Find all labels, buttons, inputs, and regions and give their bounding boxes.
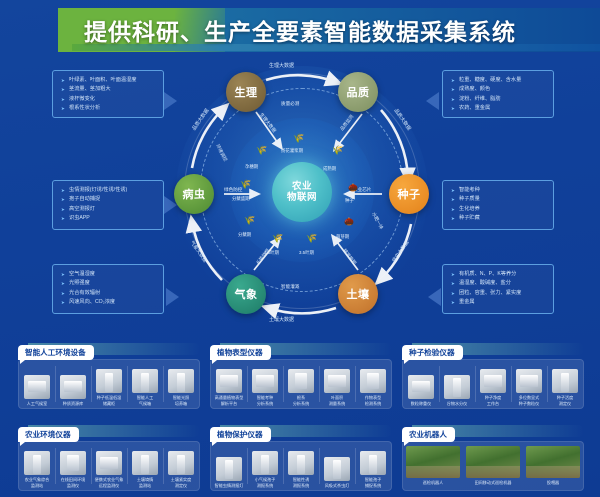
rice-plant-icon-0: 🌾 bbox=[293, 134, 304, 143]
robot-photo-label: 投喂器 bbox=[547, 480, 559, 486]
infobox-soil-list: 有机质、N、P、K等养分 温湿度、酸碱度、盐分 团粒、容重、张力、紧实度 重金属 bbox=[451, 270, 547, 308]
arc-label-top: 生理大数据 bbox=[269, 62, 294, 69]
inner-label-bottom: 智能灌溉 bbox=[281, 284, 299, 290]
infobox-seed-list: 智能考种 种子质量 生化培养 种子贮藏 bbox=[451, 186, 547, 224]
node-pest[interactable]: 病虫 bbox=[174, 174, 214, 214]
inner-label-top: 质量必测 bbox=[281, 101, 299, 107]
infobox-soil-item-2: 团粒、容重、张力、紧实度 bbox=[451, 289, 547, 298]
product-image-icon bbox=[60, 375, 86, 399]
product-item[interactable]: 作物表型 检测系统 bbox=[355, 360, 391, 408]
title-banner: 提供科研、生产全要素智能数据采集系统 bbox=[0, 8, 600, 52]
section-plant-protection: 植物保护仪器 智能虫情测报灯 小气候孢子 测报系统 智能性诱 测报系统 风吸式杀… bbox=[210, 424, 392, 442]
stage-label-1: 孕穗期 bbox=[245, 164, 258, 170]
product-image-icon bbox=[168, 369, 194, 393]
rice-plant-icon-2: 🌾 bbox=[332, 146, 343, 155]
infobox-weather-item-3: 风速风向、CO₂浓度 bbox=[61, 298, 157, 307]
stage-label-7: 种子 bbox=[345, 198, 354, 204]
infobox-weather-list: 空气温湿度 光照强度 光合有效辐射 风速风向、CO₂浓度 bbox=[61, 270, 157, 308]
product-item[interactable]: 多位数显式 种子数粒仪 bbox=[511, 360, 547, 408]
infobox-quality-list: 粒重、糖度、硬度、含水量 成熟度、颜色 淀粉、纤维、脂肪 农药、重金属 bbox=[451, 76, 547, 114]
product-label: 种子低温低湿 储藏柜 bbox=[97, 395, 122, 406]
core-agriculture-iot: 农业 物联网 bbox=[272, 162, 332, 222]
infobox-seed-item-0: 智能考种 bbox=[451, 186, 547, 195]
product-label: 种子活度 测定仪 bbox=[557, 395, 573, 406]
infobox-soil: 有机质、N、P、K等养分 温湿度、酸碱度、盐分 团粒、容重、张力、紧实度 重金属 bbox=[442, 264, 554, 314]
core-label-line2: 物联网 bbox=[287, 192, 317, 204]
product-label: 农业气象综合 监测站 bbox=[25, 477, 50, 488]
product-item[interactable]: 小气候孢子 测报系统 bbox=[247, 442, 283, 490]
product-label: 土壤墒情 监测站 bbox=[137, 477, 153, 488]
infobox-physiology-list: 叶绿素、叶面积、叶面温湿度 茎流量、茎加粗大 液杆微变化 根系性状分析 bbox=[61, 76, 157, 114]
product-label: 便携式农业气象 远程监测仪 bbox=[95, 477, 124, 488]
infobox-pest-item-3: 识虫APP bbox=[61, 214, 157, 223]
product-image-icon bbox=[60, 451, 86, 475]
robot-photo-item[interactable]: 巡检机器人 bbox=[406, 446, 460, 486]
infobox-quality-item-1: 成熟度、颜色 bbox=[451, 85, 547, 94]
infobox-pest: 虫情测报(灯诱/性诱/性诱) 孢子自动捕捉 高空测报灯 识虫APP bbox=[52, 180, 164, 230]
rice-plant-icon-5: 🌾 bbox=[272, 234, 283, 243]
rice-plant-icon-4: 🌾 bbox=[244, 216, 255, 225]
infobox-soil-item-3: 重金属 bbox=[451, 298, 547, 307]
product-label: 智能孢子 捕捉系统 bbox=[365, 477, 381, 488]
infobox-weather-item-1: 光照强度 bbox=[61, 279, 157, 288]
product-label: 叶面积 测量系统 bbox=[329, 395, 345, 406]
robot-photo-label: 巡检机器人 bbox=[423, 480, 443, 486]
infobox-physiology-item-0: 叶绿素、叶面积、叶面温湿度 bbox=[61, 76, 157, 85]
infobox-physiology-item-1: 茎流量、茎加粗大 bbox=[61, 85, 157, 94]
infobox-weather: 空气温湿度 光照强度 光合有效辐射 风速风向、CO₂浓度 bbox=[52, 264, 164, 314]
infobox-pest-list: 虫情测报(灯诱/性诱/性诱) 孢子自动捕捉 高空测报灯 识虫APP bbox=[61, 186, 157, 224]
infobox-quality-item-3: 农药、重金属 bbox=[451, 104, 547, 113]
product-image-icon bbox=[24, 451, 50, 475]
product-label: 多位数显式 种子数粒仪 bbox=[519, 395, 539, 406]
product-item[interactable]: 谷物水分仪 bbox=[439, 360, 475, 408]
product-image-icon bbox=[216, 457, 242, 481]
section-title-2: 种子检验仪器 bbox=[402, 345, 463, 360]
product-label: 数粒称重仪 bbox=[411, 401, 431, 406]
infobox-pest-item-2: 高空测报灯 bbox=[61, 205, 157, 214]
infobox-pest-item-1: 孢子自动捕捉 bbox=[61, 195, 157, 204]
section-title-3: 农业环境仪器 bbox=[18, 427, 79, 442]
infobox-weather-item-2: 光合有效辐射 bbox=[61, 289, 157, 298]
robot-photo-image bbox=[406, 446, 460, 478]
product-label: 智能考种 分析系统 bbox=[257, 395, 273, 406]
product-label: 种质资源库 bbox=[63, 401, 83, 406]
node-quality[interactable]: 品质 bbox=[338, 72, 378, 112]
robot-photo-item[interactable]: 田间移动式巡检机器 bbox=[466, 446, 520, 486]
section-title-0: 智能人工环境设备 bbox=[18, 345, 94, 360]
product-label: 高通量植物表型 解析平台 bbox=[215, 395, 244, 406]
rice-plant-icon-3: 🌾 bbox=[240, 180, 251, 189]
stage-label-8: 萌芽期 bbox=[336, 234, 349, 240]
seed-icon-1: 🌰 bbox=[344, 218, 354, 226]
node-physiology[interactable]: 生理 bbox=[226, 72, 266, 112]
product-image-icon bbox=[96, 451, 122, 475]
product-image-icon bbox=[360, 369, 386, 393]
node-seed[interactable]: 种子 bbox=[389, 174, 429, 214]
product-image-icon bbox=[288, 369, 314, 393]
robot-photo-image bbox=[526, 446, 580, 478]
product-image-icon bbox=[552, 369, 578, 393]
product-item[interactable]: 风吸式杀虫灯 bbox=[319, 442, 355, 490]
section-panel-2: 数粒称重仪 谷物水分仪 种子净度 工作台 多位数显式 种子数粒仪 种子活度 测定… bbox=[402, 359, 584, 409]
product-item[interactable]: 数粒称重仪 bbox=[403, 360, 439, 408]
section-plant-phenotyping: 植物表型仪器 高通量植物表型 解析平台 智能考种 分析系统 根系 分析系统 叶面… bbox=[210, 342, 392, 360]
section-title-4: 植物保护仪器 bbox=[210, 427, 271, 442]
product-image-icon bbox=[96, 369, 122, 393]
product-item[interactable]: 智能人工 气候箱 bbox=[127, 360, 163, 408]
product-image-icon bbox=[288, 451, 314, 475]
rice-plant-icon-1: 🌾 bbox=[256, 146, 267, 155]
product-label: 小气候孢子 测报系统 bbox=[255, 477, 275, 488]
robot-photo-item[interactable]: 投喂器 bbox=[526, 446, 580, 486]
product-item[interactable]: 智能虫情测报灯 bbox=[211, 442, 247, 490]
product-item[interactable]: 智能光照 培养箱 bbox=[163, 360, 199, 408]
product-item[interactable]: 便携式农业气象 远程监测仪 bbox=[91, 442, 127, 490]
rice-plant-icon-6: 🌾 bbox=[306, 234, 317, 243]
infobox-soil-item-1: 温湿度、酸碱度、盐分 bbox=[451, 279, 547, 288]
product-item[interactable]: 农业气象综合 监测站 bbox=[19, 442, 55, 490]
product-item[interactable]: 种子净度 工作台 bbox=[475, 360, 511, 408]
section-title-5: 农业机器人 bbox=[402, 427, 455, 442]
stage-label-6: 3.5叶期 bbox=[299, 250, 314, 256]
product-label: 智能性诱 测报系统 bbox=[293, 477, 309, 488]
product-image-icon bbox=[216, 369, 242, 393]
product-label: 根系 分析系统 bbox=[293, 395, 309, 406]
section-agri-environment: 农业环境仪器 农业气象综合 监测站 在线田间环境 监测仪 便携式农业气象 远程监… bbox=[18, 424, 200, 442]
product-item[interactable]: 根系 分析系统 bbox=[283, 360, 319, 408]
product-item[interactable]: 种子活度 测定仪 bbox=[547, 360, 583, 408]
infobox-seed: 智能考种 种子质量 生化培养 种子贮藏 bbox=[442, 180, 554, 230]
product-item[interactable]: 智能考种 分析系统 bbox=[247, 360, 283, 408]
product-label: 智能虫情测报灯 bbox=[215, 483, 244, 488]
arc-label-bottom: 土壤大数据 bbox=[269, 316, 294, 323]
section-seed-testing: 种子检验仪器 数粒称重仪 谷物水分仪 种子净度 工作台 多位数显式 种子数粒仪 … bbox=[402, 342, 584, 360]
section-smart-environment: 智能人工环境设备 人工气候室 种质资源库 种子低温低湿 储藏柜 智能人工 气候箱… bbox=[18, 342, 200, 360]
section-panel-0: 人工气候室 种质资源库 种子低温低湿 储藏柜 智能人工 气候箱 智能光照 培养箱 bbox=[18, 359, 200, 409]
stage-label-5: 4.5叶期 bbox=[264, 250, 279, 256]
product-item[interactable]: 智能性诱 测报系统 bbox=[283, 442, 319, 490]
seed-icon-0: 🌰 bbox=[348, 184, 358, 192]
product-item[interactable]: 人工气候室 bbox=[19, 360, 55, 408]
poster-root: 提供科研、生产全要素智能数据采集系统 叶绿素、叶面积、叶面温湿度 茎流量、茎加粗… bbox=[0, 0, 600, 497]
product-image-icon bbox=[252, 369, 278, 393]
infobox-seed-item-1: 种子质量 bbox=[451, 195, 547, 204]
product-label: 在线田间环境 监测仪 bbox=[61, 477, 86, 488]
node-weather[interactable]: 气象 bbox=[226, 274, 266, 314]
stage-label-2: 成熟期 bbox=[323, 166, 336, 172]
infobox-physiology-item-3: 根系性状分析 bbox=[61, 104, 157, 113]
section-panel-4: 智能虫情测报灯 小气候孢子 测报系统 智能性诱 测报系统 风吸式杀虫灯 智能孢子… bbox=[210, 441, 392, 491]
infobox-quality-item-0: 粒重、糖度、硬度、含水量 bbox=[451, 76, 547, 85]
product-label: 智能人工 气候箱 bbox=[137, 395, 153, 406]
product-label: 种子净度 工作台 bbox=[485, 395, 501, 406]
product-image-icon bbox=[444, 375, 470, 399]
robot-photo-label: 田间移动式巡检机器 bbox=[475, 480, 512, 486]
product-image-icon bbox=[132, 369, 158, 393]
product-item[interactable]: 土壤墒情 监测站 bbox=[127, 442, 163, 490]
product-image-icon bbox=[132, 451, 158, 475]
product-image-icon bbox=[408, 375, 434, 399]
stage-label-3: 分蘖盛期 bbox=[232, 196, 250, 202]
product-image-icon bbox=[24, 375, 50, 399]
product-label: 谷物水分仪 bbox=[447, 401, 467, 406]
product-image-icon bbox=[252, 451, 278, 475]
product-item[interactable]: 叶面积 测量系统 bbox=[319, 360, 355, 408]
product-label: 智能光照 培养箱 bbox=[173, 395, 189, 406]
infobox-seed-item-3: 种子贮藏 bbox=[451, 214, 547, 223]
infobox-soil-item-0: 有机质、N、P、K等养分 bbox=[451, 270, 547, 279]
product-item[interactable]: 高通量植物表型 解析平台 bbox=[211, 360, 247, 408]
page-title: 提供科研、生产全要素智能数据采集系统 bbox=[0, 8, 600, 52]
node-soil[interactable]: 土壤 bbox=[338, 274, 378, 314]
central-diagram: 生理大数据 土壤大数据 品质大数据 品质大数据 气象大数据 病虫大数据 质量必测… bbox=[168, 58, 436, 330]
infobox-quality: 粒重、糖度、硬度、含水量 成熟度、颜色 淀粉、纤维、脂肪 农药、重金属 bbox=[442, 70, 554, 118]
product-item[interactable]: 智能孢子 捕捉系统 bbox=[355, 442, 391, 490]
product-item[interactable]: 土壤紧实度 测定仪 bbox=[163, 442, 199, 490]
product-label: 人工气候室 bbox=[27, 401, 47, 406]
product-image-icon bbox=[360, 451, 386, 475]
section-panel-3: 农业气象综合 监测站 在线田间环境 监测仪 便携式农业气象 远程监测仪 土壤墒情… bbox=[18, 441, 200, 491]
infobox-physiology: 叶绿素、叶面积、叶面温湿度 茎流量、茎加粗大 液杆微变化 根系性状分析 bbox=[52, 70, 164, 118]
infobox-physiology-item-2: 液杆微变化 bbox=[61, 95, 157, 104]
product-image-icon bbox=[516, 369, 542, 393]
section-panel-5: 巡检机器人 田间移动式巡检机器 投喂器 bbox=[402, 441, 584, 491]
infobox-seed-item-2: 生化培养 bbox=[451, 205, 547, 214]
section-title-1: 植物表型仪器 bbox=[210, 345, 271, 360]
product-item[interactable]: 在线田间环境 监测仪 bbox=[55, 442, 91, 490]
product-label: 土壤紧实度 测定仪 bbox=[171, 477, 191, 488]
product-image-icon bbox=[168, 451, 194, 475]
infobox-weather-item-0: 空气温湿度 bbox=[61, 270, 157, 279]
product-image-icon bbox=[324, 457, 350, 481]
product-label: 风吸式杀虫灯 bbox=[325, 483, 350, 488]
stage-label-0: 扬花灌浆期 bbox=[281, 148, 303, 154]
product-image-icon bbox=[324, 369, 350, 393]
product-item[interactable]: 种质资源库 bbox=[55, 360, 91, 408]
product-label: 作物表型 检测系统 bbox=[365, 395, 381, 406]
product-image-icon bbox=[480, 369, 506, 393]
section-agri-robots: 农业机器人 巡检机器人 田间移动式巡检机器 投喂器 bbox=[402, 424, 584, 442]
section-panel-1: 高通量植物表型 解析平台 智能考种 分析系统 根系 分析系统 叶面积 测量系统 … bbox=[210, 359, 392, 409]
core-label-line1: 农业 bbox=[292, 181, 312, 193]
product-item[interactable]: 种子低温低湿 储藏柜 bbox=[91, 360, 127, 408]
infobox-quality-item-2: 淀粉、纤维、脂肪 bbox=[451, 95, 547, 104]
infobox-pest-item-0: 虫情测报(灯诱/性诱/性诱) bbox=[61, 186, 157, 195]
stage-label-4: 分蘖期 bbox=[238, 232, 251, 238]
robot-photo-image bbox=[466, 446, 520, 478]
